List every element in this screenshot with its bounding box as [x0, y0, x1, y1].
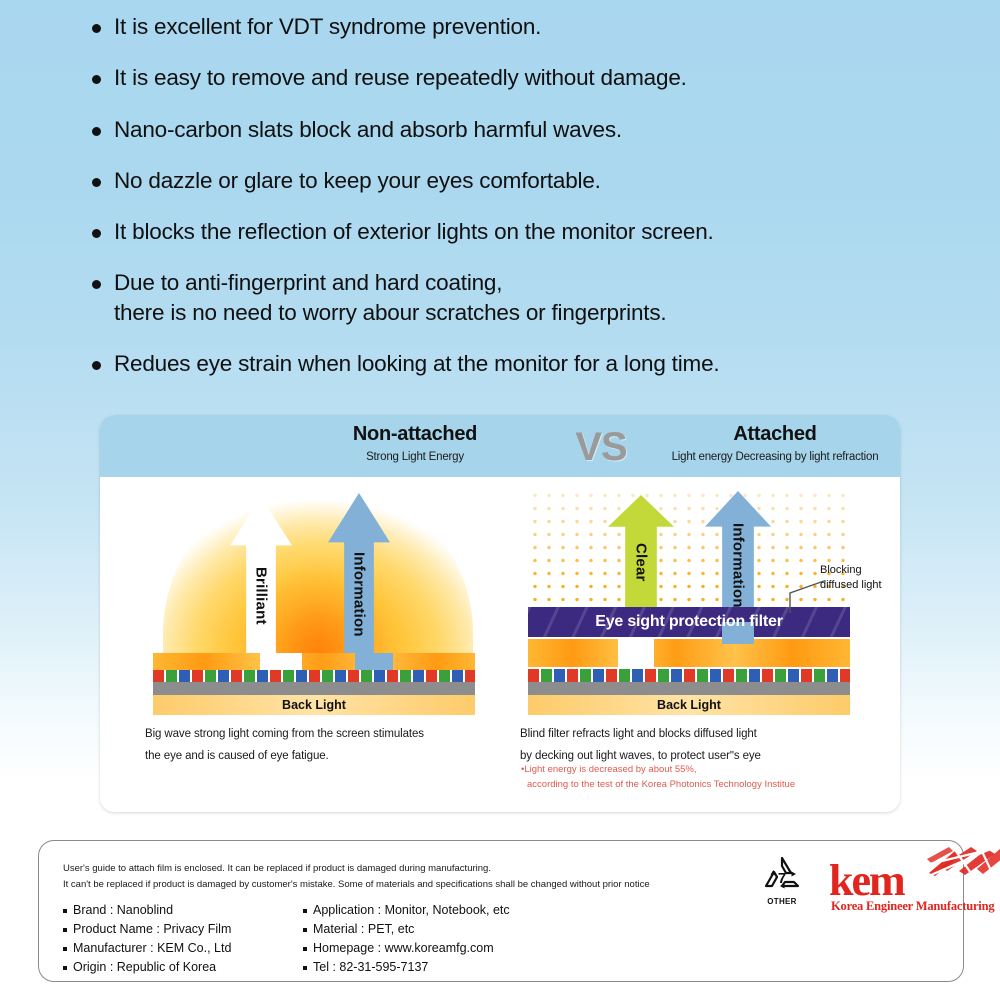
square-bullet-icon: [63, 928, 67, 932]
list-item: Nano-carbon slats block and absorb harmf…: [92, 115, 922, 144]
spec-item: Product Name : Privacy Film: [63, 920, 303, 939]
light-energy-note: •Light energy is decreased by about 55%,…: [521, 763, 881, 792]
brilliant-arrow-label: Brilliant: [253, 567, 270, 625]
spec-column-left: Brand : Nanoblind Product Name : Privacy…: [63, 901, 303, 977]
feature-text: Due to anti-fingerprint and hard coating…: [114, 268, 666, 327]
backlight-label: Back Light: [528, 695, 850, 715]
spec-label: Tel : 82-31-595-7137: [313, 958, 428, 977]
spec-columns: Brand : Nanoblind Product Name : Privacy…: [63, 901, 763, 977]
bullet-dot-icon: [92, 280, 101, 289]
emission-layer: [528, 639, 850, 667]
panel-substrate-layer: [528, 682, 850, 695]
list-item: Redues eye strain when looking at the mo…: [92, 349, 922, 378]
spec-item: Application : Monitor, Notebook, etc: [303, 901, 543, 920]
feature-line-1: No dazzle or glare to keep your eyes com…: [114, 168, 601, 193]
square-bullet-icon: [303, 909, 307, 913]
feature-list: It is excellent for VDT syndrome prevent…: [92, 12, 922, 400]
backlight-label: Back Light: [153, 695, 475, 715]
information-arrow-label: Information: [351, 552, 368, 637]
list-item: Due to anti-fingerprint and hard coating…: [92, 268, 922, 327]
rgb-pixel-layer: [153, 670, 475, 682]
list-item: It blocks the reflection of exterior lig…: [92, 217, 922, 246]
information-light-gap: [355, 653, 393, 670]
feature-text: It is excellent for VDT syndrome prevent…: [114, 12, 541, 41]
spec-column-right: Application : Monitor, Notebook, etc Mat…: [303, 901, 543, 977]
square-bullet-icon: [303, 928, 307, 932]
spec-label: Application : Monitor, Notebook, etc: [313, 901, 510, 920]
spec-item: Tel : 82-31-595-7137: [303, 958, 543, 977]
feature-line-1: Redues eye strain when looking at the mo…: [114, 351, 719, 376]
bullet-dot-icon: [92, 24, 101, 33]
non-attached-caption: Big wave strong light coming from the sc…: [145, 723, 495, 768]
blocking-note-line-1: Blocking: [820, 563, 900, 578]
note-line-2: according to the test of the Korea Photo…: [521, 778, 881, 793]
spec-label: Manufacturer : KEM Co., Ltd: [73, 939, 231, 958]
note-line-1: Light energy is decreased by about 55%,: [524, 764, 696, 775]
caption-line-1: Big wave strong light coming from the sc…: [145, 723, 495, 745]
feature-text: It blocks the reflection of exterior lig…: [114, 217, 714, 246]
diagram-header-right: Attached Light energy Decreasing by ligh…: [565, 415, 900, 477]
diagram-header-left: Non-attached Strong Light Energy: [250, 415, 580, 477]
recycle-number: 7: [751, 870, 813, 887]
information-arrow-label: Information: [730, 523, 747, 608]
feature-text: Nano-carbon slats block and absorb harmf…: [114, 115, 622, 144]
spec-item: Manufacturer : KEM Co., Ltd: [63, 939, 303, 958]
strong-light-glow: [163, 478, 473, 653]
attached-title: Attached: [565, 423, 900, 446]
list-item: It is easy to remove and reuse repeatedl…: [92, 63, 922, 92]
spec-item: Brand : Nanoblind: [63, 901, 303, 920]
clear-arrow-label: Clear: [633, 543, 650, 582]
rgb-strip: [528, 669, 850, 682]
feature-line-1: It blocks the reflection of exterior lig…: [114, 219, 714, 244]
rgb-pixel-layer: [528, 669, 850, 682]
square-bullet-icon: [303, 966, 307, 970]
bullet-dot-icon: [92, 127, 101, 136]
feature-line-1: It is easy to remove and reuse repeatedl…: [114, 65, 687, 90]
non-attached-subtitle: Strong Light Energy: [250, 451, 580, 463]
attached-illustration: Clear Information Blocking diffused ligh…: [520, 485, 860, 715]
notice-line-1: User's guide to attach film is enclosed.…: [63, 861, 783, 877]
list-item: No dazzle or glare to keep your eyes com…: [92, 166, 922, 195]
square-bullet-icon: [303, 947, 307, 951]
spec-item: Material : PET, etc: [303, 920, 543, 939]
recycle-category-label: OTHER: [751, 897, 813, 906]
caption-line-2: the eye and is caused of eye fatigue.: [145, 745, 495, 767]
backlight-layer: Back Light: [153, 695, 475, 715]
list-item: It is excellent for VDT syndrome prevent…: [92, 12, 922, 41]
recycling-symbol: 7 OTHER: [751, 853, 813, 902]
product-info-footer: User's guide to attach film is enclosed.…: [38, 840, 964, 982]
backlight-layer: Back Light: [528, 695, 850, 715]
spec-label: Product Name : Privacy Film: [73, 920, 231, 939]
kem-logo: kem Korea Engineer Manufacturing: [829, 845, 1000, 917]
bullet-dot-icon: [92, 178, 101, 187]
non-attached-title: Non-attached: [250, 423, 580, 446]
attached-caption: Blind filter refracts light and blocks d…: [520, 723, 880, 768]
spec-label: Origin : Republic of Korea: [73, 958, 216, 977]
notice-line-2: It can't be replaced if product is damag…: [63, 877, 783, 893]
blocking-diffused-light-note: Blocking diffused light: [820, 563, 900, 593]
caption-line-1: Blind filter refracts light and blocks d…: [520, 723, 880, 745]
logo-tagline: Korea Engineer Manufacturing: [831, 899, 994, 914]
feature-text: Redues eye strain when looking at the mo…: [114, 349, 719, 378]
emission-layer: [153, 653, 475, 670]
panel-substrate-layer: [153, 682, 475, 695]
feature-line-2: there is no need to worry abour scratche…: [114, 298, 666, 327]
clear-arrow-icon: Clear: [608, 495, 674, 617]
square-bullet-icon: [63, 947, 67, 951]
square-bullet-icon: [63, 909, 67, 913]
feature-line-1: It is excellent for VDT syndrome prevent…: [114, 14, 541, 39]
logo-swoosh-icon: [925, 845, 1000, 879]
bullet-dot-icon: [92, 75, 101, 84]
bullet-dot-icon: [92, 229, 101, 238]
feature-text: No dazzle or glare to keep your eyes com…: [114, 166, 601, 195]
feature-line-1: Nano-carbon slats block and absorb harmf…: [114, 117, 622, 142]
square-bullet-icon: [63, 966, 67, 970]
footer-notice: User's guide to attach film is enclosed.…: [63, 861, 783, 892]
spec-label: Brand : Nanoblind: [73, 901, 173, 920]
feature-line-1: Due to anti-fingerprint and hard coating…: [114, 270, 502, 295]
clear-light-gap: [618, 639, 654, 667]
non-attached-illustration: Brilliant Information Back Light: [145, 485, 490, 715]
brilliant-light-gap: [260, 653, 302, 670]
spec-label: Homepage : www.koreamfg.com: [313, 939, 494, 958]
attached-subtitle: Light energy Decreasing by light refract…: [565, 451, 900, 463]
spec-item: Origin : Republic of Korea: [63, 958, 303, 977]
spec-item: Homepage : www.koreamfg.com: [303, 939, 543, 958]
bullet-dot-icon: [92, 361, 101, 370]
spec-label: Material : PET, etc: [313, 920, 414, 939]
blocking-note-line-2: diffused light: [820, 578, 900, 593]
rgb-strip: [153, 670, 475, 682]
feature-text: It is easy to remove and reuse repeatedl…: [114, 63, 687, 92]
